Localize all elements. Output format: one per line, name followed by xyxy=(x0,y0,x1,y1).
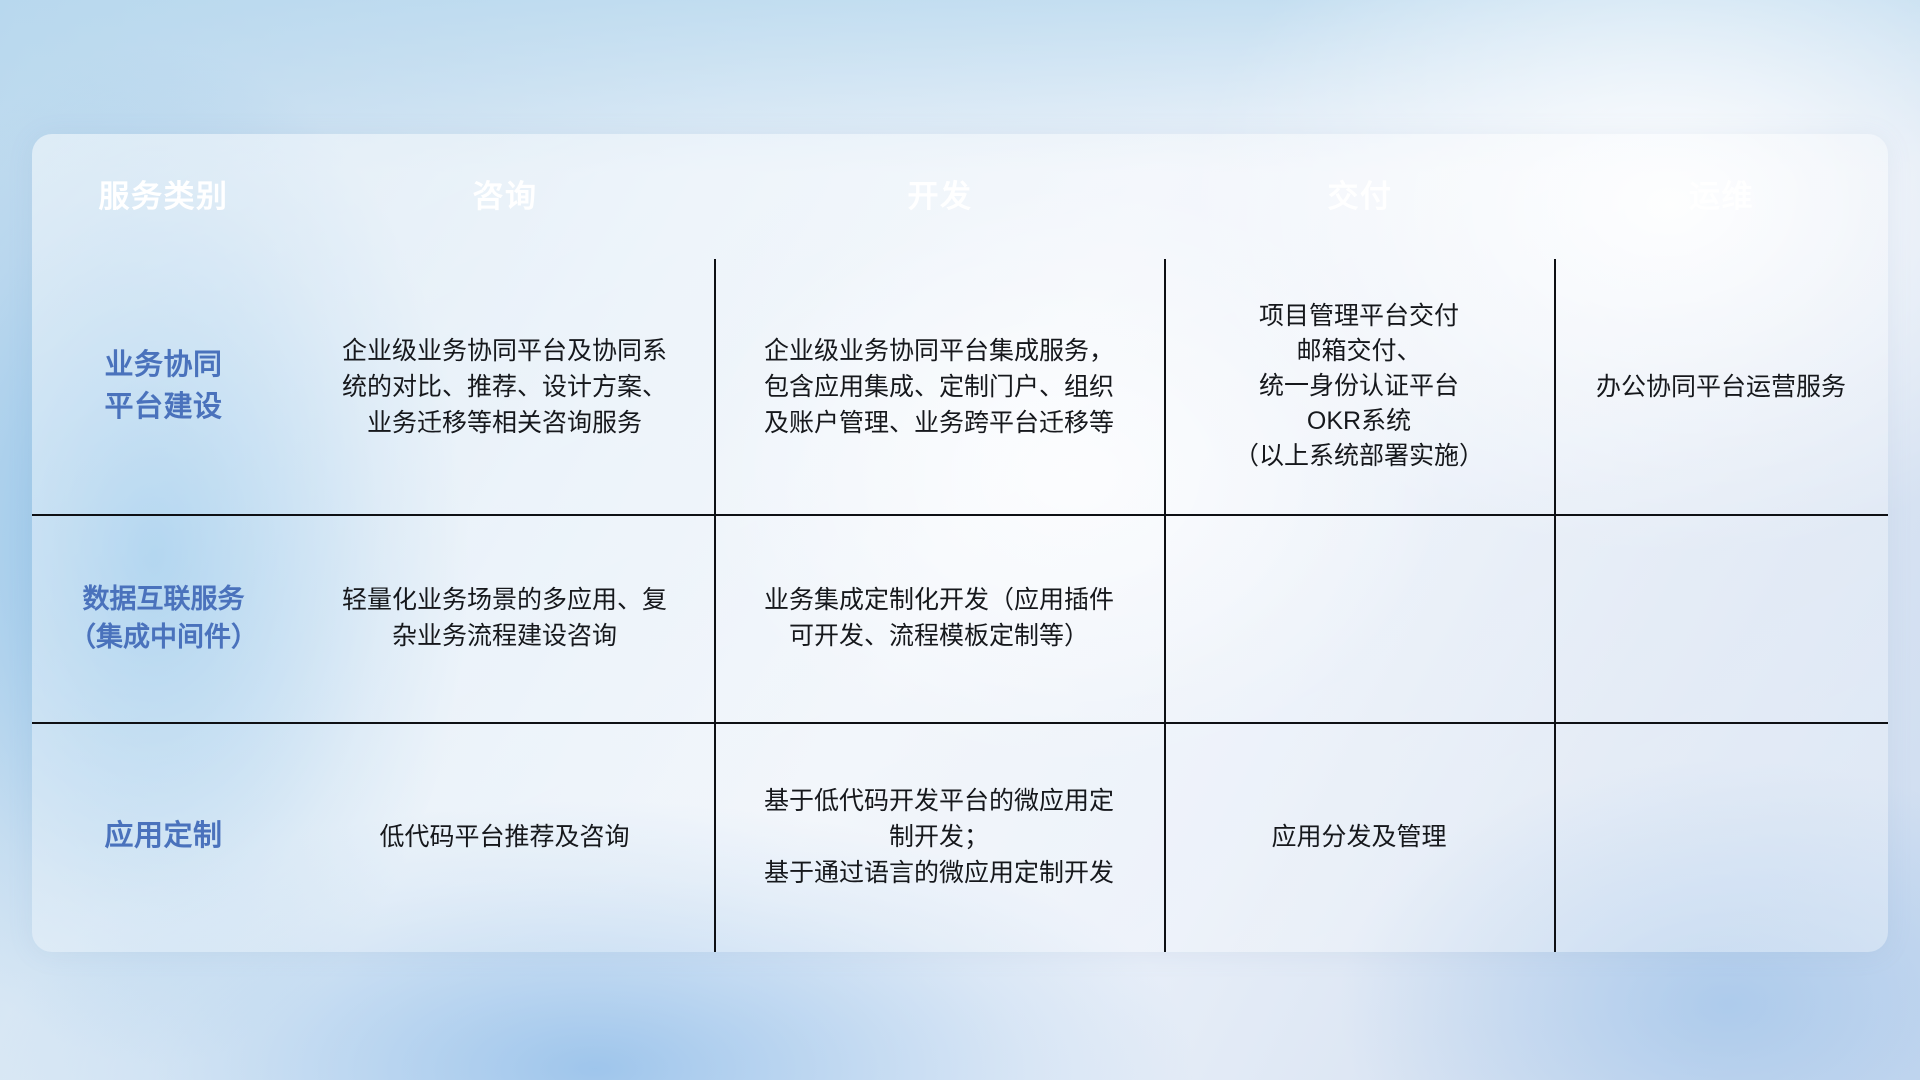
development-text: 业务集成定制化开发（应用插件 可开发、流程模板定制等） xyxy=(764,582,1114,654)
category-label: 业务协同 平台建设 xyxy=(104,345,222,427)
cell-delivery: 项目管理平台交付 邮箱交付、 统一身份认证平台 OKR系统 （以上系统部署实施） xyxy=(1164,259,1554,514)
category-label: 应用定制 xyxy=(104,816,222,857)
table-row: 应用定制 低代码平台推荐及咨询 基于低代码开发平台的微应用定 制开发； 基于通过… xyxy=(32,722,1888,952)
cell-consulting: 轻量化业务场景的多应用、复 杂业务流程建设咨询 xyxy=(295,514,714,722)
consulting-text: 轻量化业务场景的多应用、复 杂业务流程建设咨询 xyxy=(342,582,667,654)
cell-development: 基于低代码开发平台的微应用定 制开发； 基于通过语言的微应用定制开发 xyxy=(714,722,1164,952)
table-body: 业务协同 平台建设 企业级业务协同平台及协同系 统的对比、推荐、设计方案、 业务… xyxy=(32,259,1888,952)
delivery-text: 应用分发及管理 xyxy=(1271,819,1446,855)
row-divider xyxy=(32,722,1888,724)
operations-text: 办公协同平台运营服务 xyxy=(1596,369,1846,405)
cell-consulting: 低代码平台推荐及咨询 xyxy=(295,722,714,952)
consulting-text: 低代码平台推荐及咨询 xyxy=(379,819,629,855)
cell-development: 业务集成定制化开发（应用插件 可开发、流程模板定制等） xyxy=(714,514,1164,722)
delivery-text: 项目管理平台交付 邮箱交付、 统一身份认证平台 OKR系统 （以上系统部署实施） xyxy=(1234,299,1484,474)
cell-operations: 办公协同平台运营服务 xyxy=(1554,259,1888,514)
column-header-development: 开发 xyxy=(715,181,1165,212)
cell-category: 数据互联服务 （集成中间件） xyxy=(32,514,295,722)
column-header-service-category: 服务类别 xyxy=(32,181,295,212)
category-label: 数据互联服务 （集成中间件） xyxy=(69,580,258,657)
column-divider xyxy=(1554,259,1556,952)
service-matrix-table: 服务类别 咨询 开发 交付 运维 业务协同 平台建设 企业级业务协同平台及协同系… xyxy=(32,134,1888,952)
table-header-row: 服务类别 咨询 开发 交付 运维 xyxy=(32,134,1888,259)
row-divider xyxy=(32,514,1888,516)
table-row: 数据互联服务 （集成中间件） 轻量化业务场景的多应用、复 杂业务流程建设咨询 业… xyxy=(32,514,1888,722)
cell-consulting: 企业级业务协同平台及协同系 统的对比、推荐、设计方案、 业务迁移等相关咨询服务 xyxy=(295,259,714,514)
cell-development: 企业级业务协同平台集成服务， 包含应用集成、定制门户、组织 及账户管理、业务跨平… xyxy=(714,259,1164,514)
cell-operations xyxy=(1554,514,1888,722)
column-header-consulting: 咨询 xyxy=(295,181,715,212)
column-divider xyxy=(1164,259,1166,952)
column-header-delivery: 交付 xyxy=(1165,181,1555,212)
consulting-text: 企业级业务协同平台及协同系 统的对比、推荐、设计方案、 业务迁移等相关咨询服务 xyxy=(342,333,667,441)
table-row: 业务协同 平台建设 企业级业务协同平台及协同系 统的对比、推荐、设计方案、 业务… xyxy=(32,259,1888,514)
cell-category: 业务协同 平台建设 xyxy=(32,259,295,514)
development-text: 企业级业务协同平台集成服务， 包含应用集成、定制门户、组织 及账户管理、业务跨平… xyxy=(764,333,1114,441)
cell-operations xyxy=(1554,722,1888,952)
column-header-operations: 运维 xyxy=(1555,181,1888,212)
cell-category: 应用定制 xyxy=(32,722,295,952)
column-divider xyxy=(714,259,716,952)
development-text: 基于低代码开发平台的微应用定 制开发； 基于通过语言的微应用定制开发 xyxy=(764,783,1114,891)
cell-delivery xyxy=(1164,514,1554,722)
cell-delivery: 应用分发及管理 xyxy=(1164,722,1554,952)
